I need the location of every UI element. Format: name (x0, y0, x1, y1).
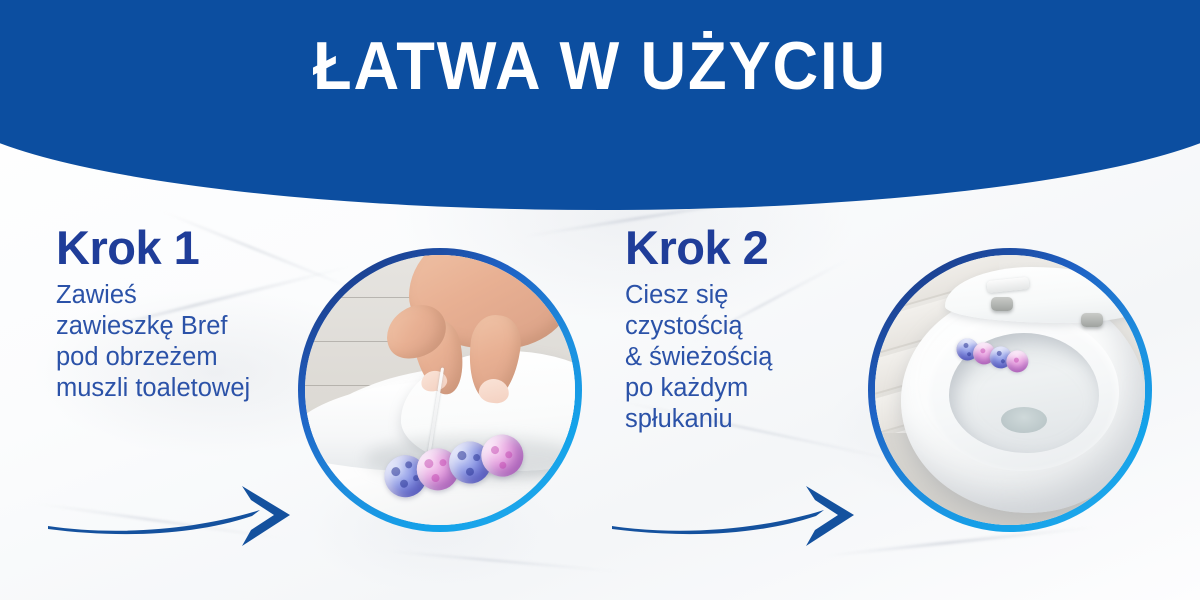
seat-hinge (1081, 313, 1103, 327)
step-2-arrow (610, 482, 870, 552)
page-title: ŁATWA W UŻYCIU (42, 28, 1158, 104)
step-2-photo (868, 248, 1152, 532)
step-2-heading: Krok 2 (625, 222, 875, 274)
step-1-arrow (46, 482, 306, 552)
step-2-description: Ciesz się czystością & świeżością po każ… (625, 280, 875, 435)
promo-poster: ŁATWA W UŻYCIU Krok 1 Zawieś zawieszkę B… (0, 0, 1200, 600)
step-2-block: Krok 2 Ciesz się czystością & świeżością… (625, 222, 875, 435)
step-1-heading: Krok 1 (56, 222, 306, 274)
toilet-drain (1001, 407, 1047, 433)
step-1-description: Zawieś zawieszkę Bref pod obrzeżem muszl… (56, 280, 306, 404)
step-1-photo-image (305, 255, 575, 525)
seat-hinge (991, 297, 1013, 311)
step-1-block: Krok 1 Zawieś zawieszkę Bref pod obrzeże… (56, 222, 306, 404)
step-2-photo-image (875, 255, 1145, 525)
marble-vein (380, 550, 619, 573)
step-1-photo (298, 248, 582, 532)
hand (383, 255, 575, 419)
